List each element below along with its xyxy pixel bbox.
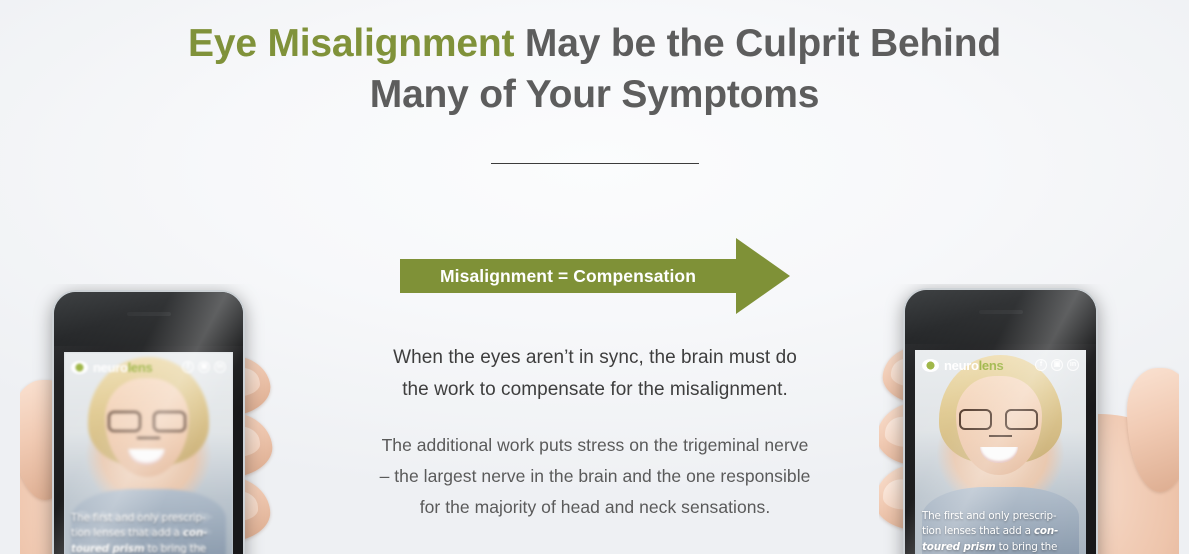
screen-copy-right: The first and only prescrip- tion lenses… [922,509,1079,554]
phone-illustration-right: neurolens f ▣ in The first and only pres… [879,284,1179,554]
secondary-paragraph: The additional work puts stress on the t… [330,430,860,523]
brand-prefix-right: neuro [944,358,979,373]
page-title-rest: May be the Culprit Behind [514,22,1001,65]
arrow-banner-label: Misalignment = Compensation [400,259,736,293]
brand-suffix-right: lens [979,358,1004,373]
smartphone-left: neurolens f ▣ in The first and only pres… [52,290,245,554]
screen-header-right: neurolens f ▣ in [915,354,1086,376]
screen-copy-line-3b-right: to bring the [995,541,1057,553]
brand-suffix-left: lens [128,360,153,375]
phone-top-bezel-right [905,290,1096,344]
glasses-bridge-left [137,437,161,440]
lead-paragraph: When the eyes aren’t in sync, the brain … [330,342,860,406]
glasses-lens-left-r [153,411,186,432]
smartphone-right: neurolens f ▣ in The first and only pres… [903,288,1098,554]
phone-screen-left: neurolens f ▣ in The first and only pres… [64,352,233,554]
screen-header-left: neurolens f ▣ in [64,356,233,378]
screen-copy-line-3a-right: toured prism [922,541,995,553]
social-links-left: f ▣ in [182,361,226,373]
phone-top-bezel-left [54,292,243,346]
glasses-lens-left-l [108,411,141,432]
brand-logo-text-left: neurolens [93,360,152,375]
photo-glasses-left [108,411,186,432]
page-title-accent: Eye Misalignment [188,22,514,65]
screen-copy-line-3b-left: to bring the [144,543,206,554]
lead-line-1: When the eyes aren’t in sync, the brain … [393,347,797,368]
screen-copy-line-2b-left: con- [183,527,207,539]
brand-logo-text-right: neurolens [944,358,1003,373]
linkedin-icon-right[interactable]: in [1067,359,1079,371]
linkedin-icon-left[interactable]: in [214,361,226,373]
screen-copy-line-2b-right: con- [1034,525,1058,537]
instagram-icon-right[interactable]: ▣ [1051,359,1063,371]
speaker-grill-right [979,310,1023,314]
social-links-right: f ▣ in [1035,359,1079,371]
title-divider-wrap [0,163,1189,164]
lead-line-2: the work to compensate for the misalignm… [402,379,788,400]
phone-illustration-left: neurolens f ▣ in The first and only pres… [20,284,320,554]
sub-line-2: – the largest nerve in the brain and the… [380,466,811,486]
glasses-bridge-right [989,435,1013,438]
glasses-lens-right-l [959,409,992,430]
neurolens-eye-logo-icon-left [71,361,88,374]
page-title-line-1: Eye Misalignment May be the Culprit Behi… [188,22,1001,65]
brand-prefix-left: neuro [93,360,128,375]
screen-copy-line-2a-right: tion lenses that add a [922,525,1034,537]
phone-screen-right: neurolens f ▣ in The first and only pres… [915,350,1086,554]
screen-copy-left: The first and only prescrip- tion lenses… [71,511,226,554]
page-title: Eye Misalignment May be the Culprit Behi… [0,18,1189,121]
photo-glasses-right [959,409,1038,430]
speaker-grill-left [127,312,171,316]
title-divider [491,163,699,164]
facebook-icon-right[interactable]: f [1035,359,1047,371]
instagram-icon-left[interactable]: ▣ [198,361,210,373]
page-title-line-2: Many of Your Symptoms [370,73,819,116]
screen-copy-line-1-right: The first and only prescrip- [922,510,1056,522]
screen-copy-line-3a-left: toured prism [71,543,144,554]
facebook-icon-left[interactable]: f [182,361,194,373]
screen-copy-line-1-left: The first and only prescrip- [71,512,205,524]
neurolens-eye-logo-icon-right [922,359,939,372]
sub-line-1: The additional work puts stress on the t… [382,435,809,455]
content-column: Misalignment = Compensation When the eye… [330,230,860,523]
glasses-lens-right-r [1005,409,1038,430]
sub-line-3: for the majority of head and neck sensat… [420,497,771,517]
misalignment-arrow-banner: Misalignment = Compensation [400,230,790,322]
screen-copy-line-2a-left: tion lenses that add a [71,527,183,539]
